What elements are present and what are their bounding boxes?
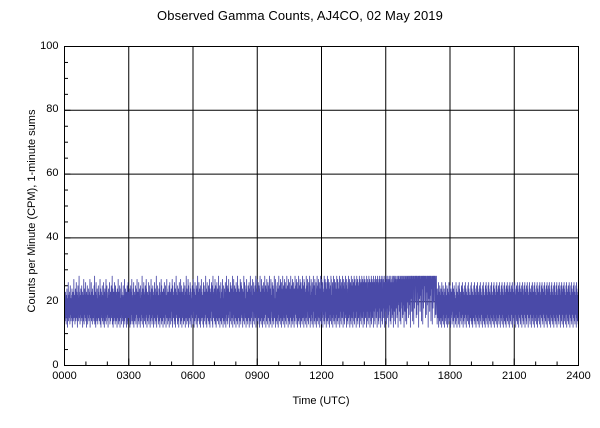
series-gamma-counts (65, 276, 579, 327)
x-tick-label: 2400 (559, 370, 599, 382)
y-tick-label: 100 (25, 40, 59, 52)
y-tick-label: 20 (25, 295, 59, 307)
y-tick-label: 60 (25, 167, 59, 179)
x-tick-label: 0300 (109, 370, 149, 382)
x-tick-label: 2100 (494, 370, 534, 382)
y-tick-label: 80 (25, 103, 59, 115)
plot-area (0, 0, 600, 428)
x-tick-label: 1800 (430, 370, 470, 382)
data-series-line (65, 276, 579, 327)
x-tick-label: 0600 (173, 370, 213, 382)
chart-figure: Observed Gamma Counts, AJ4CO, 02 May 201… (0, 0, 600, 428)
y-tick-label: 40 (25, 231, 59, 243)
x-tick-label: 1500 (366, 370, 406, 382)
x-tick-label: 0900 (237, 370, 277, 382)
x-tick-label: 0000 (45, 370, 85, 382)
x-tick-label: 1200 (302, 370, 342, 382)
